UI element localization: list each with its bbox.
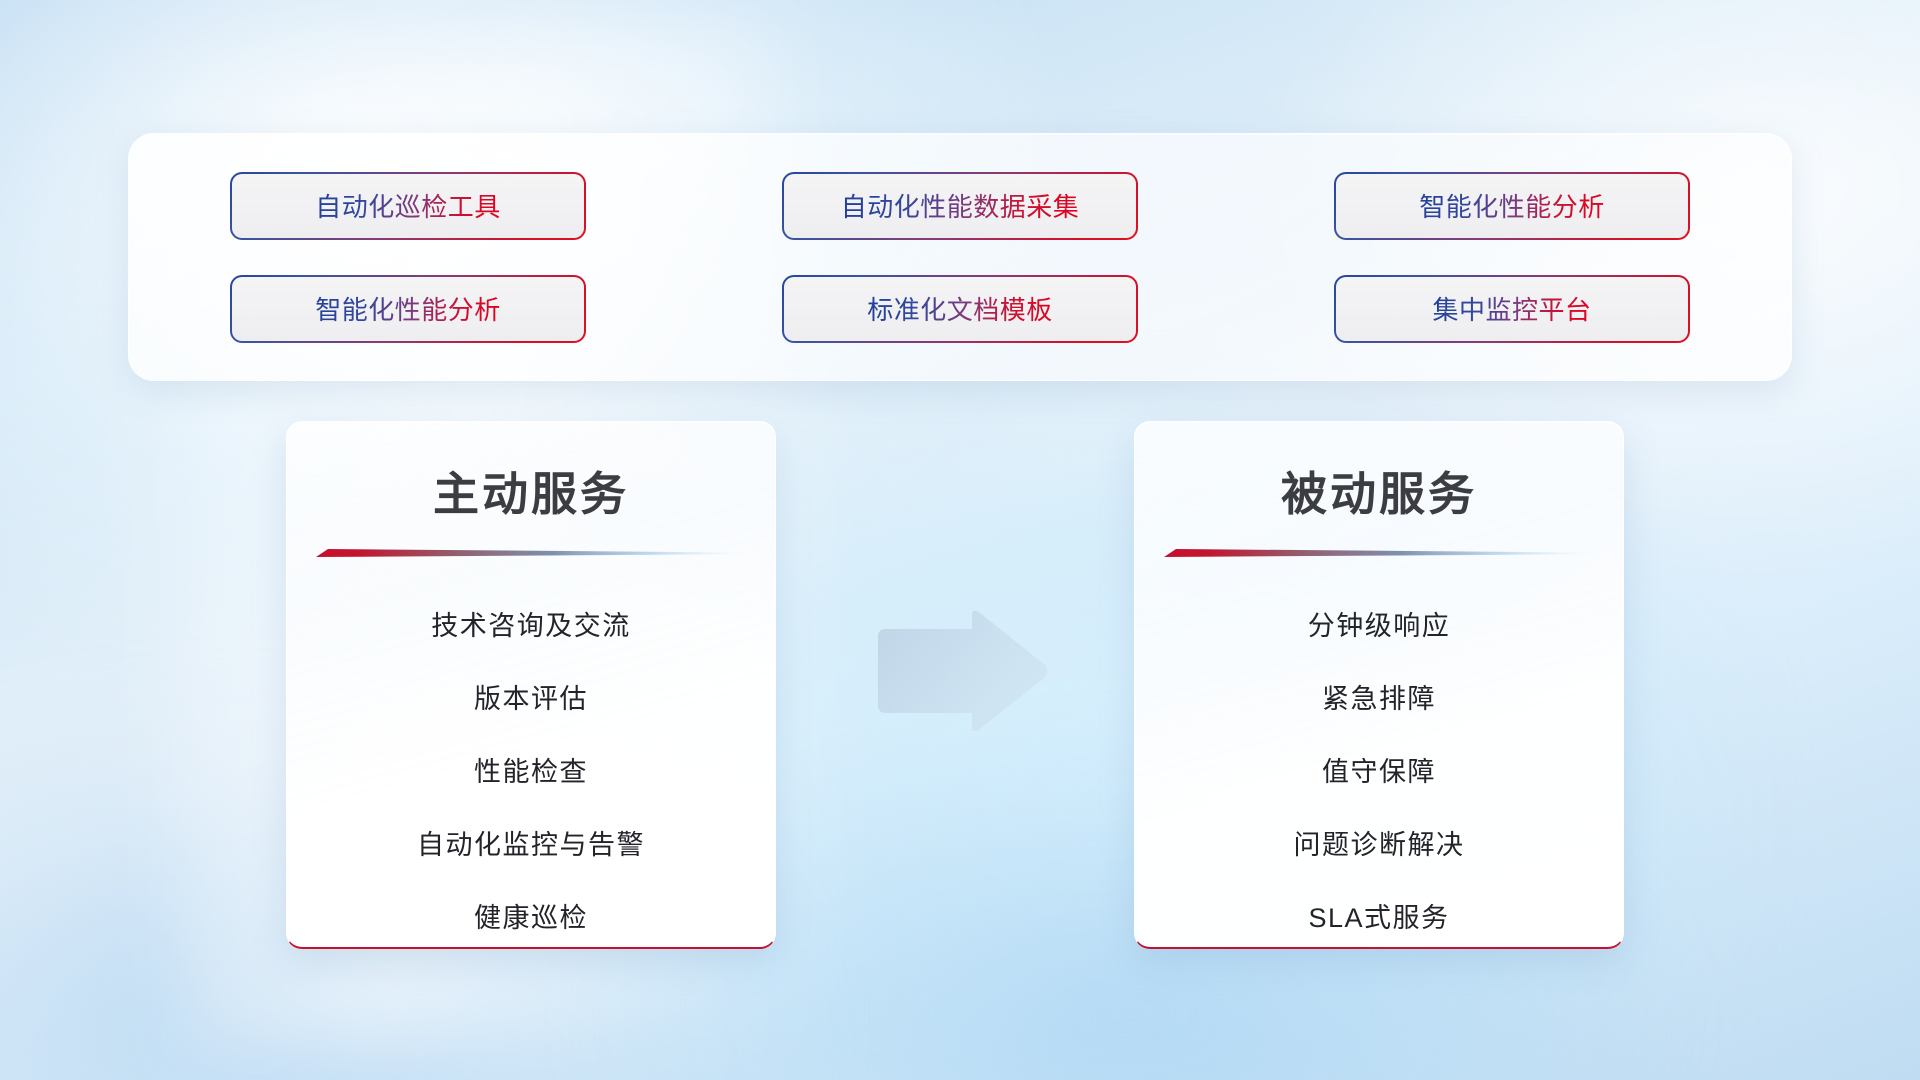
capability-pill-2-body: 自动化性能数据采集 — [784, 174, 1136, 238]
title-divider-proactive — [316, 546, 746, 560]
capability-pill-2[interactable]: 自动化性能数据采集 — [782, 172, 1138, 240]
capability-pill-4[interactable]: 智能化性能分析 — [230, 275, 586, 343]
service-card-proactive-title: 主动服务 — [287, 458, 775, 524]
capability-pill-5-label: 标准化文档模板 — [867, 290, 1053, 327]
capability-pill-1-label: 自动化巡检工具 — [315, 187, 501, 224]
service-card-proactive[interactable]: 主动服务 技术咨询及交流 版本评估 性能检查 自动化监控与告警 健康巡检 — [286, 421, 776, 949]
right-arrow-icon — [872, 611, 1052, 731]
service-card-reactive-title: 被动服务 — [1135, 458, 1623, 524]
capability-pill-grid: 自动化巡检工具 自动化性能数据采集 智能化性能分析 智能化性能分析 标准化文档模… — [230, 172, 1690, 343]
capability-pill-6-body: 集中监控平台 — [1336, 277, 1688, 341]
capability-pill-5[interactable]: 标准化文档模板 — [782, 275, 1138, 343]
capability-pill-4-body: 智能化性能分析 — [232, 277, 584, 341]
title-divider-reactive — [1164, 546, 1594, 560]
list-item: 技术咨询及交流 — [431, 590, 631, 663]
capability-pill-panel: 自动化巡检工具 自动化性能数据采集 智能化性能分析 智能化性能分析 标准化文档模… — [128, 133, 1792, 381]
service-card-proactive-list: 技术咨询及交流 版本评估 性能检查 自动化监控与告警 健康巡检 — [287, 590, 775, 949]
list-item: 自动化监控与告警 — [417, 809, 645, 882]
capability-pill-3-body: 智能化性能分析 — [1336, 174, 1688, 238]
capability-pill-4-label: 智能化性能分析 — [315, 290, 501, 327]
list-item: 健康巡检 — [474, 882, 588, 949]
list-item: 值守保障 — [1322, 736, 1436, 809]
list-item: 分钟级响应 — [1308, 590, 1451, 663]
capability-pill-6[interactable]: 集中监控平台 — [1334, 275, 1690, 343]
capability-pill-1[interactable]: 自动化巡检工具 — [230, 172, 586, 240]
list-item: 性能检查 — [474, 736, 588, 809]
capability-pill-5-body: 标准化文档模板 — [784, 277, 1136, 341]
list-item: 版本评估 — [474, 663, 588, 736]
capability-pill-3[interactable]: 智能化性能分析 — [1334, 172, 1690, 240]
capability-pill-1-body: 自动化巡检工具 — [232, 174, 584, 238]
list-item: 问题诊断解决 — [1294, 809, 1465, 882]
list-item: SLA式服务 — [1308, 882, 1449, 949]
capability-pill-2-label: 自动化性能数据采集 — [841, 187, 1080, 224]
capability-pill-6-label: 集中监控平台 — [1432, 290, 1591, 327]
list-item: 紧急排障 — [1322, 663, 1436, 736]
service-card-reactive-list: 分钟级响应 紧急排障 值守保障 问题诊断解决 SLA式服务 — [1135, 590, 1623, 949]
capability-pill-3-label: 智能化性能分析 — [1419, 187, 1605, 224]
service-card-reactive[interactable]: 被动服务 分钟级响应 紧急排障 值守保障 问题诊断解决 SLA式服务 — [1134, 421, 1624, 949]
